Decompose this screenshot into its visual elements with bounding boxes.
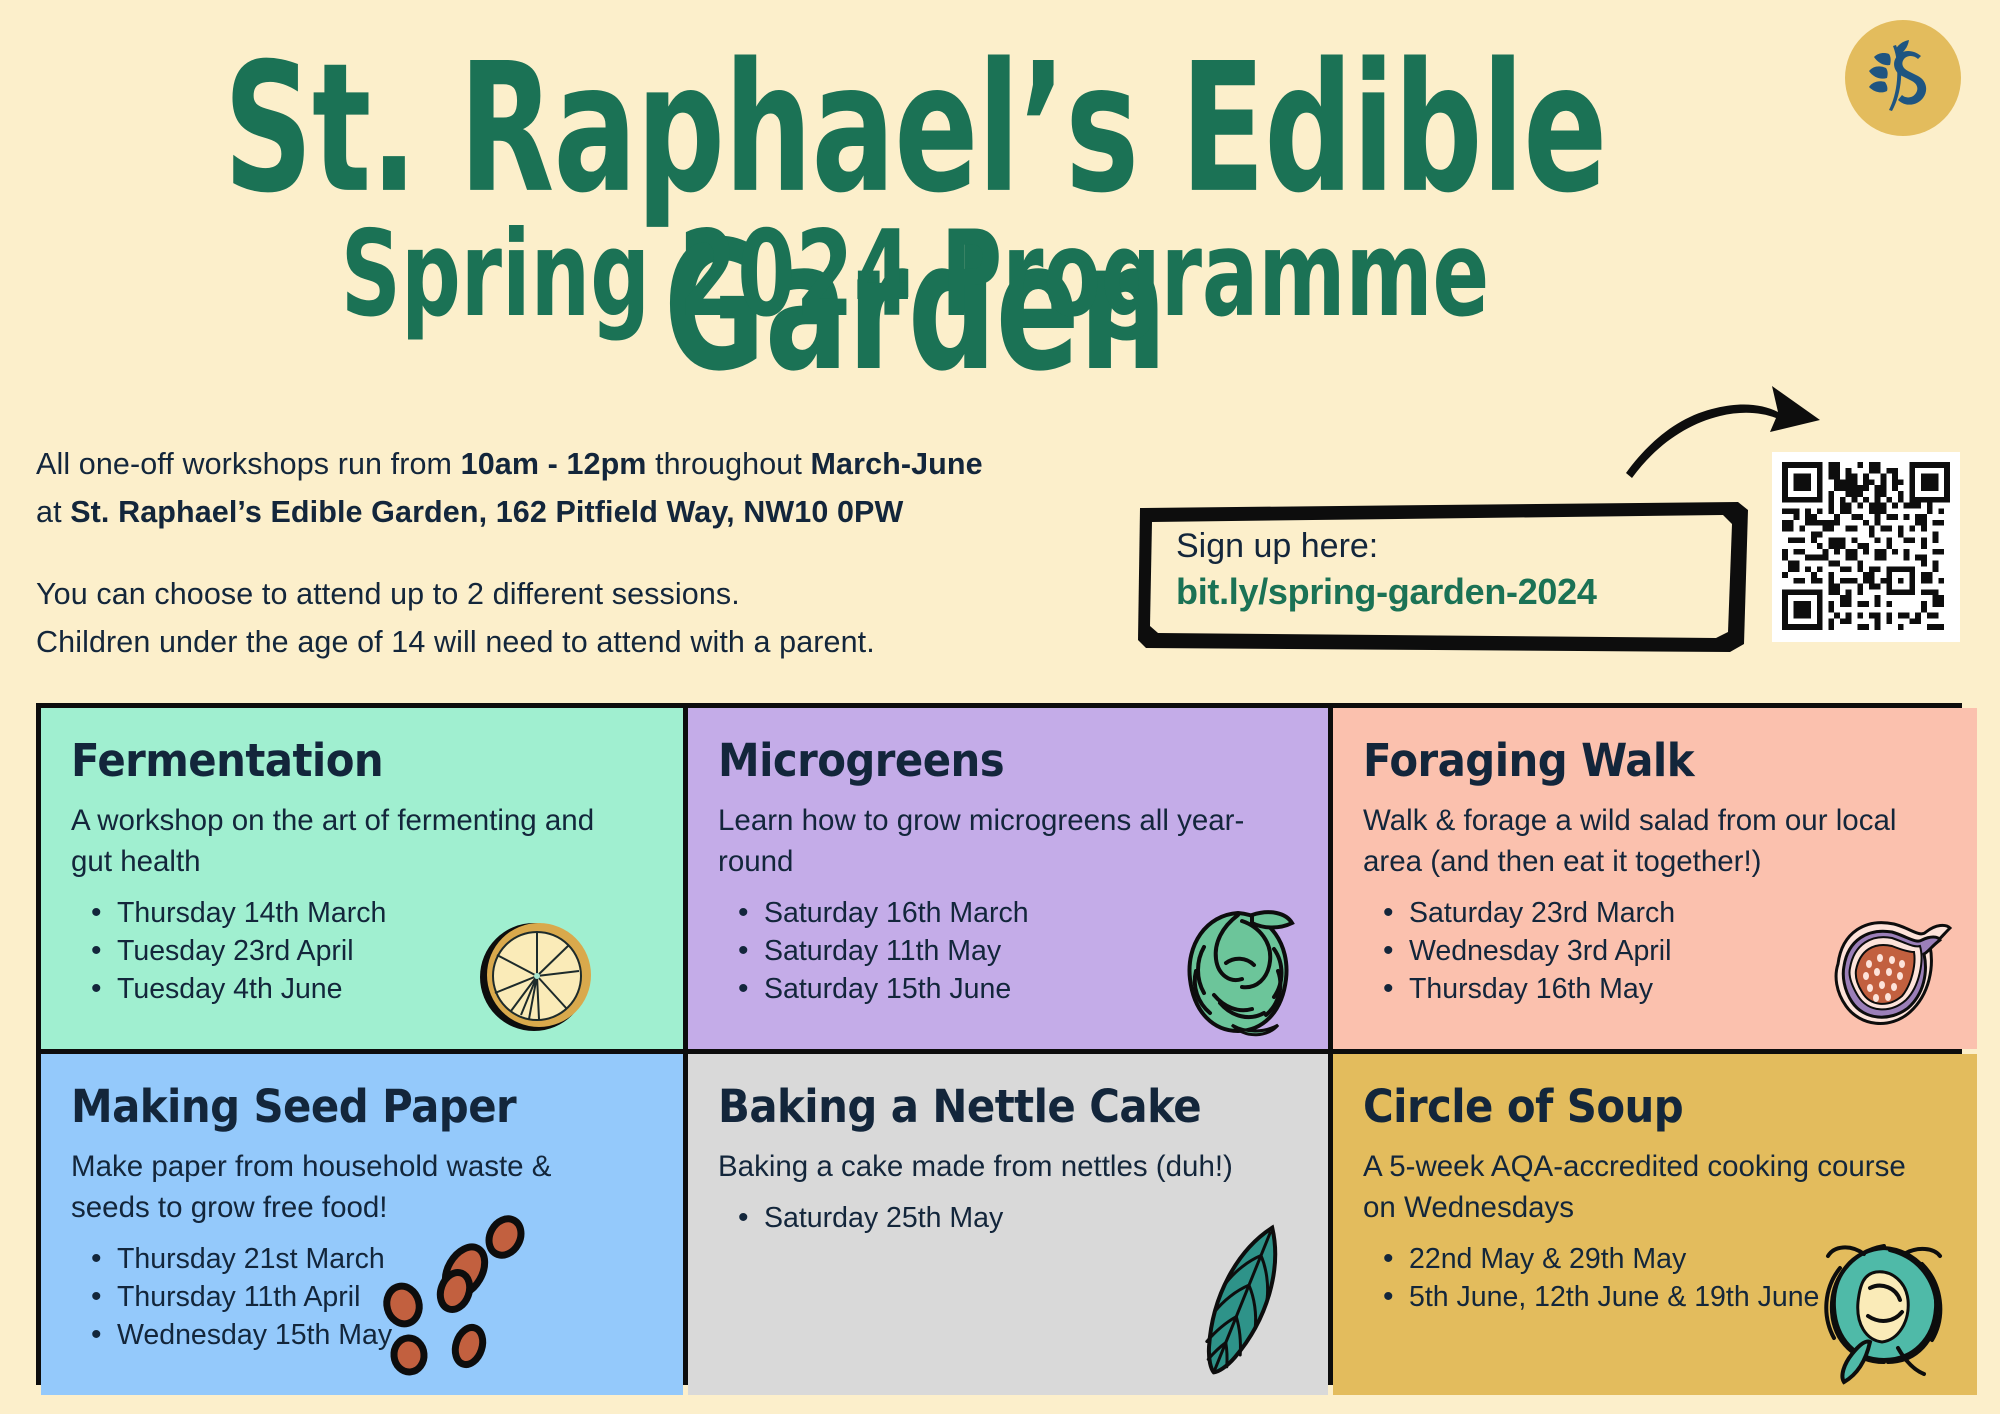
card-date-list: Thursday 21st March Thursday 11th April … — [71, 1240, 653, 1354]
card-title: Foraging Walk — [1363, 736, 1906, 786]
card-date-item: Saturday 15th June — [764, 970, 1298, 1008]
card-date-list: Saturday 25th May — [718, 1199, 1298, 1237]
workshop-card-fermentation[interactable]: Fermentation A workshop on the art of fe… — [41, 708, 683, 1049]
card-title: Making Seed Paper — [71, 1082, 612, 1132]
card-date-item: Saturday 25th May — [764, 1199, 1298, 1237]
card-date-item: Wednesday 3rd April — [1409, 932, 1947, 970]
card-date-item: 22nd May & 29th May — [1409, 1240, 1947, 1278]
info-spacer — [36, 536, 1266, 570]
signup-url-link[interactable]: bit.ly/spring-garden-2024 — [1176, 568, 1597, 616]
workshop-card-seed-paper[interactable]: Making Seed Paper Make paper from househ… — [41, 1054, 683, 1395]
card-date-item: Saturday 11th May — [764, 932, 1298, 970]
workshop-card-nettle-cake[interactable]: Baking a Nettle Cake Baking a cake made … — [688, 1054, 1328, 1395]
card-date-item: Tuesday 23rd April — [117, 932, 653, 970]
info-block: All one-off workshops run from 10am - 12… — [36, 440, 1266, 666]
signup-text-group: Sign up here: bit.ly/spring-garden-2024 — [1176, 524, 1597, 616]
card-date-item: Thursday 16th May — [1409, 970, 1947, 1008]
card-date-item: Saturday 16th March — [764, 894, 1298, 932]
workshop-card-foraging-walk[interactable]: Foraging Walk Walk & forage a wild salad… — [1333, 708, 1977, 1049]
info-address-value: St. Raphael’s Edible Garden, 162 Pitfiel… — [70, 495, 903, 529]
card-date-list: Saturday 23rd March Wednesday 3rd April … — [1363, 894, 1947, 1008]
card-date-list: 22nd May & 29th May 5th June, 12th June … — [1363, 1240, 1947, 1316]
info-line-sessions: You can choose to attend up to 2 differe… — [36, 570, 1266, 618]
card-description: Learn how to grow microgreens all year-r… — [718, 800, 1278, 882]
card-date-item: 5th June, 12th June & 19th June — [1409, 1278, 1947, 1316]
signup-label: Sign up here: — [1176, 524, 1597, 568]
signup-box[interactable]: Sign up here: bit.ly/spring-garden-2024 — [1138, 502, 1748, 652]
workshop-card-microgreens[interactable]: Microgreens Learn how to grow microgreen… — [688, 708, 1328, 1049]
card-description: Walk & forage a wild salad from our loca… — [1363, 800, 1923, 882]
card-date-item: Wednesday 15th May — [117, 1316, 653, 1354]
card-title: Microgreens — [718, 736, 1257, 786]
card-date-item: Thursday 11th April — [117, 1278, 653, 1316]
card-date-list: Thursday 14th March Tuesday 23rd April T… — [71, 894, 653, 1008]
card-title: Fermentation — [71, 736, 612, 786]
info-line-hours: All one-off workshops run from 10am - 12… — [36, 440, 1266, 488]
nettle-leaf-icon — [1181, 1218, 1306, 1383]
card-description: Baking a cake made from nettles (duh!) — [718, 1146, 1278, 1187]
info-line-address: at St. Raphael’s Edible Garden, 162 Pitf… — [36, 488, 1266, 536]
info-hours-time: 10am - 12pm — [461, 447, 647, 481]
card-date-item: Saturday 23rd March — [1409, 894, 1947, 932]
card-title: Baking a Nettle Cake — [718, 1082, 1257, 1132]
garden-logo — [1843, 18, 1963, 138]
info-line-children: Children under the age of 14 will need t… — [36, 618, 1266, 666]
page-subtitle: Spring 2024 Programme — [46, 215, 1785, 334]
card-date-item: Thursday 21st March — [117, 1240, 653, 1278]
card-description: A workshop on the art of fermenting and … — [71, 800, 631, 882]
card-description: A 5-week AQA-accredited cooking course o… — [1363, 1146, 1923, 1228]
workshop-grid: Fermentation A workshop on the art of fe… — [36, 703, 1962, 1385]
info-hours-mid: throughout — [647, 447, 811, 481]
card-date-item: Thursday 14th March — [117, 894, 653, 932]
card-description: Make paper from household waste & seeds … — [71, 1146, 631, 1228]
card-title: Circle of Soup — [1363, 1082, 1906, 1132]
info-hours-prefix: All one-off workshops run from — [36, 447, 461, 481]
info-address-prefix: at — [36, 495, 70, 529]
info-hours-months: March-June — [811, 447, 983, 481]
qr-code-icon[interactable] — [1782, 462, 1950, 630]
poster-header: St. Raphael’s Edible Garden Spring 2024 … — [0, 0, 2000, 360]
card-date-list: Saturday 16th March Saturday 11th May Sa… — [718, 894, 1298, 1008]
card-date-item: Tuesday 4th June — [117, 970, 653, 1008]
workshop-card-circle-of-soup[interactable]: Circle of Soup A 5-week AQA-accredited c… — [1333, 1054, 1977, 1395]
qr-code-card[interactable] — [1772, 452, 1960, 642]
